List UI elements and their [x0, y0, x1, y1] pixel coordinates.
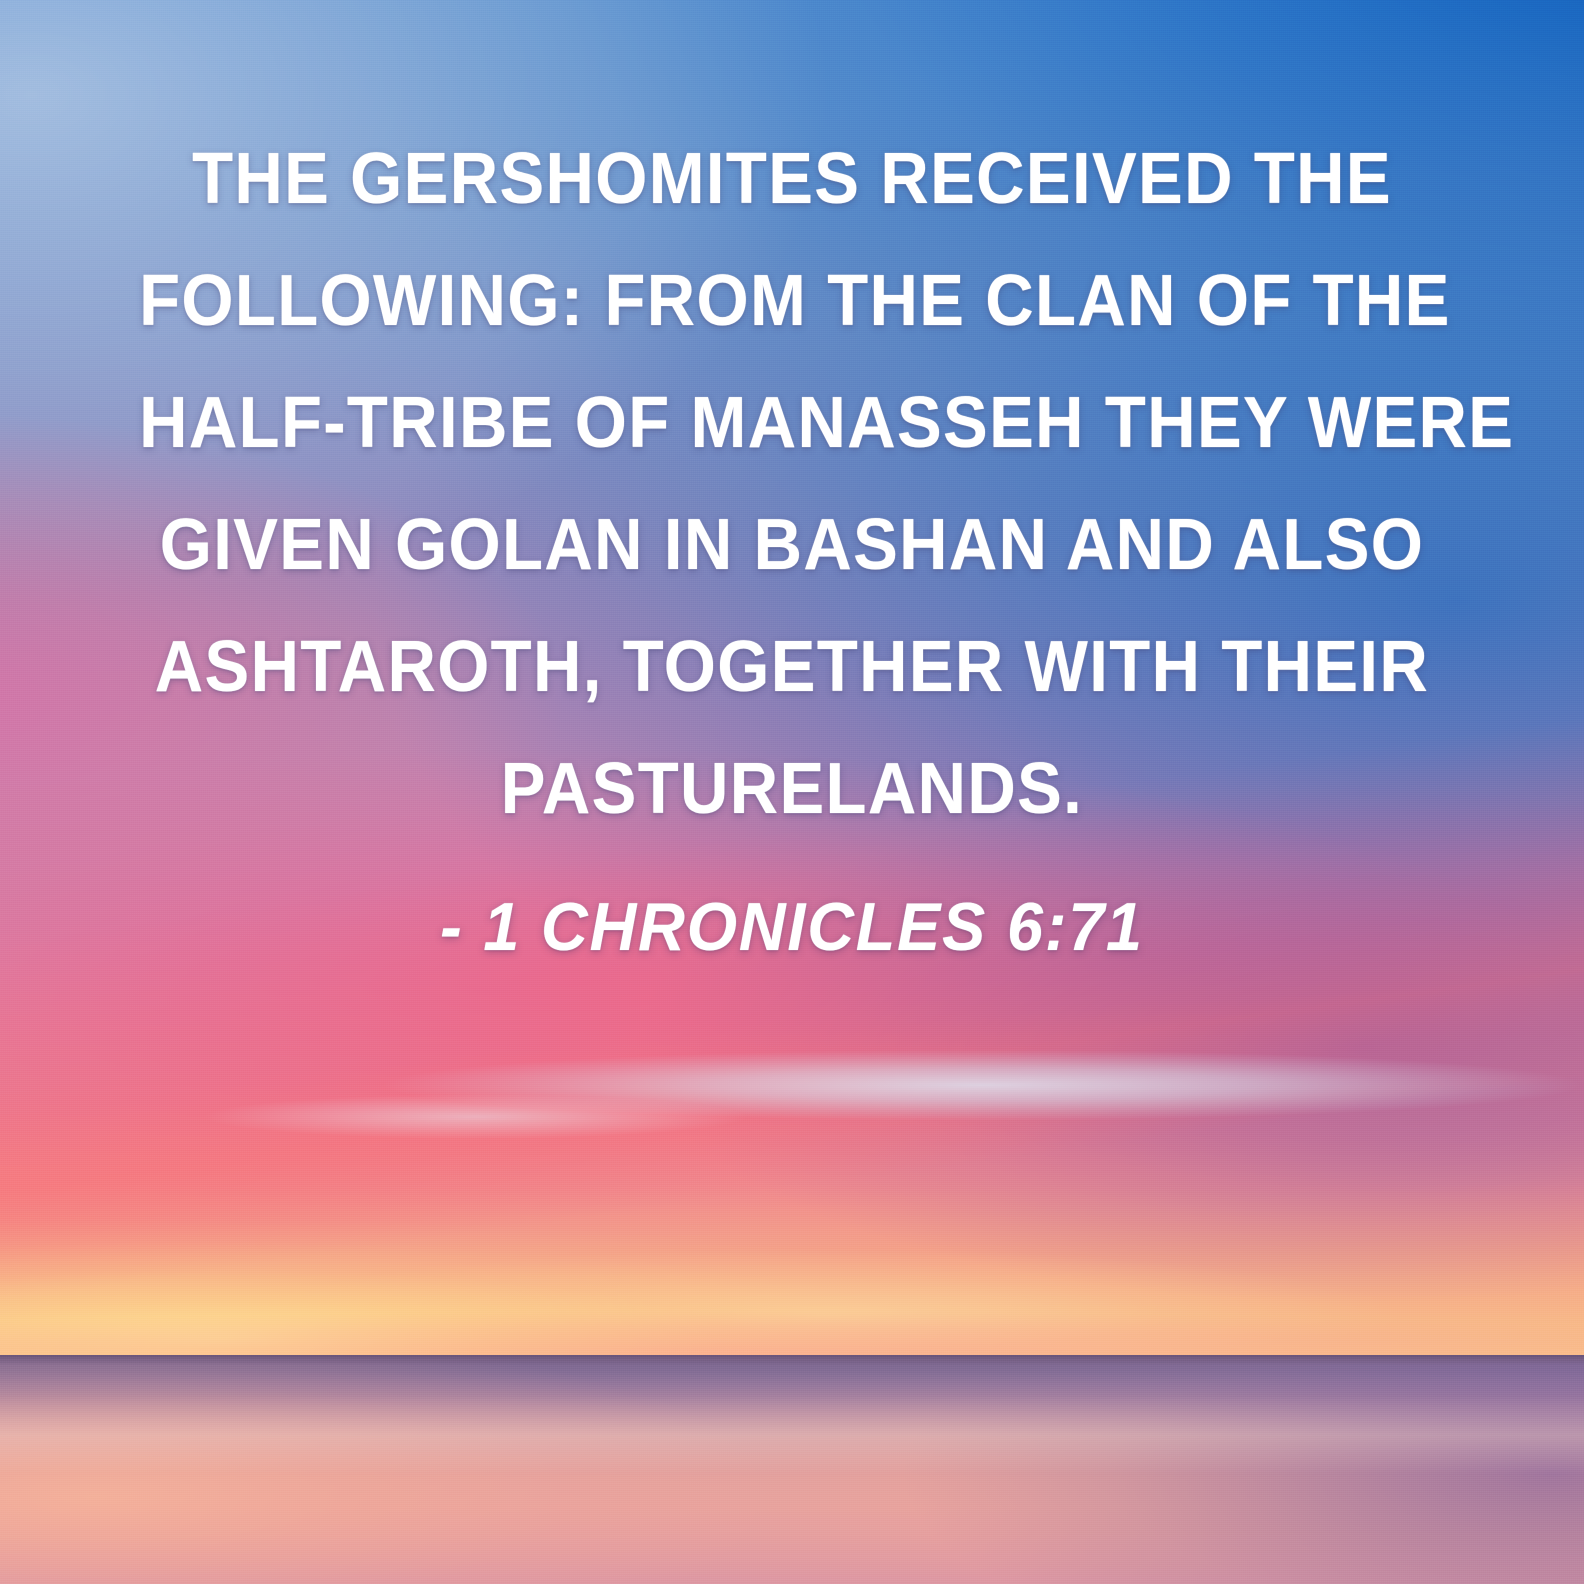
verse-text-block: THE GERSHOMITES RECEIVED THE FOLLOWING: … — [0, 118, 1584, 850]
verse-citation: - 1 CHRONICLES 6:71 — [40, 888, 1545, 966]
verse-line-2: FOLLOWING: FROM THE CLAN OF THE — [139, 240, 1445, 362]
verse-line-6: PASTURELANDS. — [139, 728, 1445, 850]
verse-line-1: THE GERSHOMITES RECEIVED THE — [139, 118, 1445, 240]
verse-line-3: HALF-TRIBE OF MANASSEH THEY WERE — [139, 362, 1445, 484]
verse-image-canvas: THE GERSHOMITES RECEIVED THE FOLLOWING: … — [0, 0, 1584, 1584]
verse-line-4: GIVEN GOLAN IN BASHAN AND ALSO — [139, 484, 1445, 606]
verse-line-5: ASHTAROTH, TOGETHER WITH THEIR — [139, 606, 1445, 728]
